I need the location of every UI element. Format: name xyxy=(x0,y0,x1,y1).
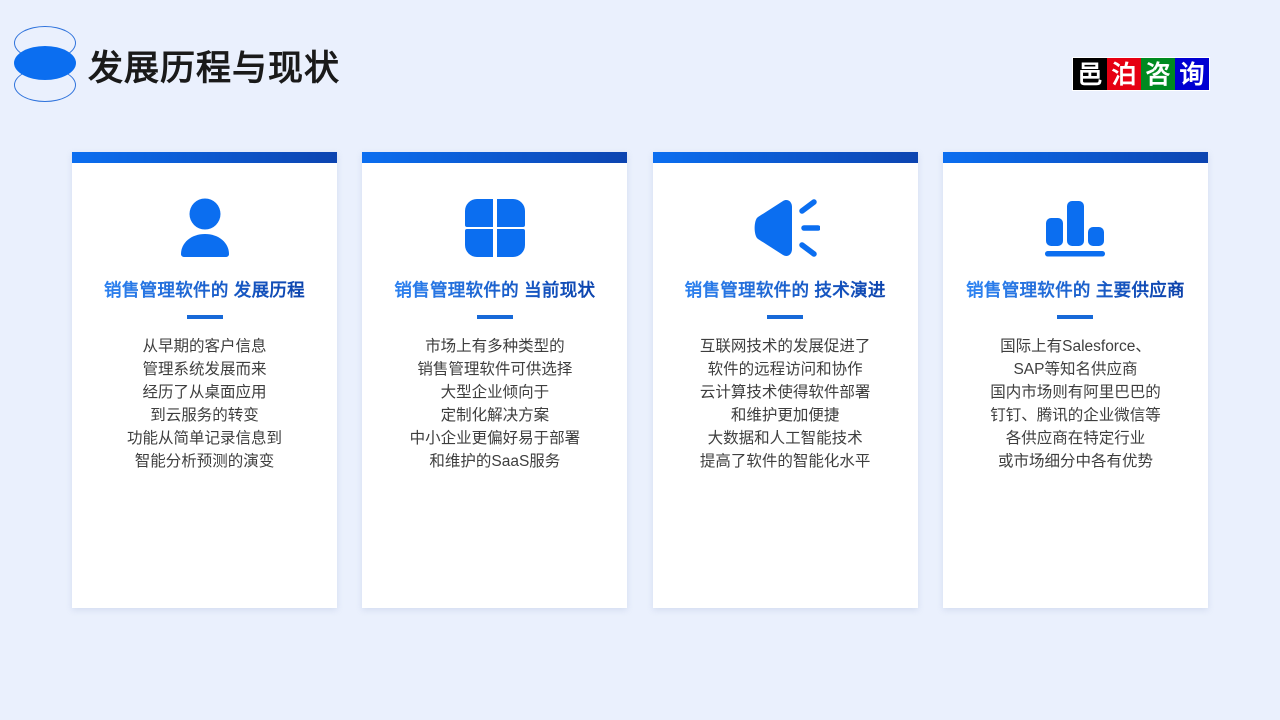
card-current-status[interactable]: 销售管理软件的 当前现状 市场上有多种类型的 销售管理软件可供选择 大型企业倾向… xyxy=(362,152,627,608)
card-divider xyxy=(1057,315,1093,319)
card-major-vendors[interactable]: 销售管理软件的 主要供应商 国际上有Salesforce、 SAP等知名供应商 … xyxy=(943,152,1208,608)
card-divider xyxy=(767,315,803,319)
card-accent-bar xyxy=(943,152,1208,163)
card-development-history[interactable]: 销售管理软件的 发展历程 从早期的客户信息 管理系统发展而来 经历了从桌面应用 … xyxy=(72,152,337,608)
brand-logo-char-1: 泊 xyxy=(1107,58,1141,90)
card-row: 销售管理软件的 发展历程 从早期的客户信息 管理系统发展而来 经历了从桌面应用 … xyxy=(72,152,1208,610)
brand-logo-char-3: 询 xyxy=(1175,58,1209,90)
card-title: 销售管理软件的 当前现状 xyxy=(380,277,610,303)
bar-chart-icon xyxy=(1039,195,1111,261)
card-body-text: 互联网技术的发展促进了 软件的远程访问和协作 云计算技术使得软件部署 和维护更加… xyxy=(665,335,905,473)
card-accent-bar xyxy=(653,152,918,163)
logo-ellipse-middle xyxy=(14,46,76,80)
card-divider xyxy=(187,315,223,319)
brand-logo-char-0: 邑 xyxy=(1073,58,1107,90)
card-body-text: 市场上有多种类型的 销售管理软件可供选择 大型企业倾向于 定制化解决方案 中小企… xyxy=(375,335,615,473)
page-title: 发展历程与现状 xyxy=(88,40,340,91)
four-petal-grid-icon xyxy=(459,195,531,261)
card-divider xyxy=(477,315,513,319)
card-title: 销售管理软件的 主要供应商 xyxy=(960,277,1190,303)
card-title: 销售管理软件的 发展历程 xyxy=(90,277,320,303)
stacked-ellipse-logo-icon xyxy=(14,26,76,102)
brand-logo: 邑 泊 咨 询 xyxy=(1072,57,1210,91)
brand-logo-char-2: 咨 xyxy=(1141,58,1175,90)
card-body-text: 从早期的客户信息 管理系统发展而来 经历了从桌面应用 到云服务的转变 功能从简单… xyxy=(85,335,325,473)
card-technology-evolution[interactable]: 销售管理软件的 技术演进 互联网技术的发展促进了 软件的远程访问和协作 云计算技… xyxy=(653,152,918,608)
page-header: 发展历程与现状 邑 泊 咨 询 xyxy=(0,0,1280,132)
user-person-icon xyxy=(169,195,241,261)
megaphone-speaker-icon xyxy=(749,195,821,261)
card-body-text: 国际上有Salesforce、 SAP等知名供应商 国内市场则有阿里巴巴的 钉钉… xyxy=(955,335,1195,473)
card-accent-bar xyxy=(362,152,627,163)
card-title: 销售管理软件的 技术演进 xyxy=(670,277,900,303)
card-accent-bar xyxy=(72,152,337,163)
